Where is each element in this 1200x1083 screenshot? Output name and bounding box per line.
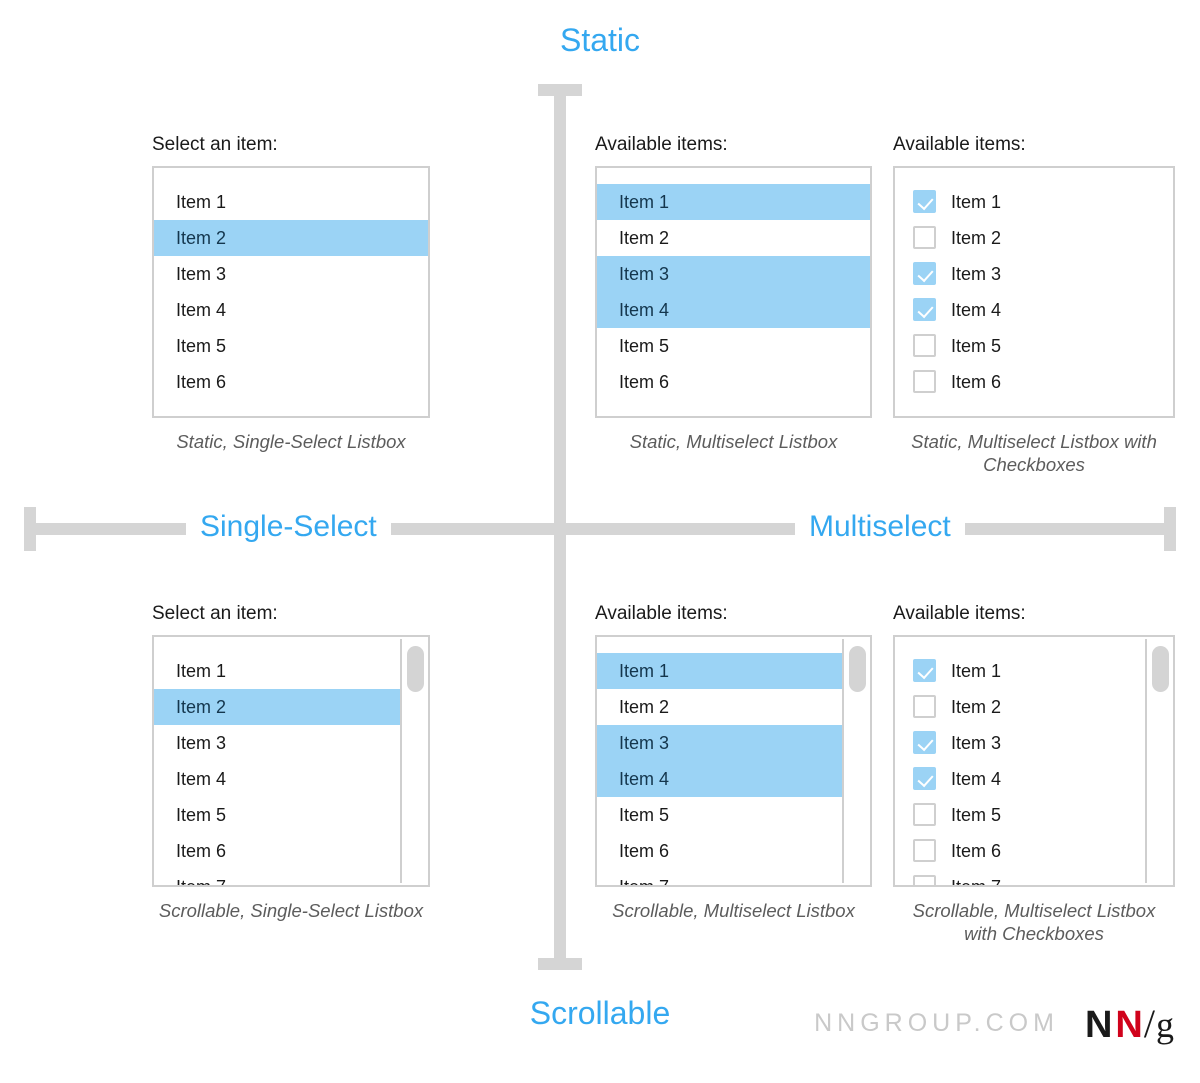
listbox-caption: Scrollable, Multiselect Listbox — [589, 899, 879, 922]
footer-site-url: NNGROUP.COM — [814, 1009, 1059, 1038]
axis-label-single-select: Single-Select — [186, 512, 391, 542]
list-item-label: Item 2 — [619, 229, 669, 247]
horizontal-axis-cap-left — [24, 507, 36, 551]
list-item[interactable]: Item 1 — [895, 653, 1147, 689]
list-item-label: Item 3 — [951, 734, 1001, 752]
panel-scrollable-single-select: Select an item:Item 1Item 2Item 3Item 4I… — [152, 603, 430, 922]
list-item[interactable]: Item 3 — [895, 725, 1147, 761]
checkbox-unchecked-icon[interactable] — [913, 334, 936, 357]
footer: NNGROUP.COM N N / g — [814, 1000, 1174, 1047]
list-item-label: Item 6 — [176, 373, 226, 391]
listbox-caption: Static, Single-Select Listbox — [152, 430, 430, 453]
list-item-label: Item 1 — [951, 193, 1001, 211]
list-item[interactable]: Item 6 — [895, 833, 1147, 869]
list-item[interactable]: Item 7 — [154, 869, 402, 887]
list-item[interactable]: Item 5 — [895, 797, 1147, 833]
horizontal-axis-cap-right — [1164, 507, 1176, 551]
list-item-label: Item 1 — [176, 662, 226, 680]
checkbox-checked-icon[interactable] — [913, 767, 936, 790]
list-item[interactable]: Item 4 — [154, 292, 428, 328]
list-item-label: Item 5 — [951, 806, 1001, 824]
list-item[interactable]: Item 1 — [154, 653, 402, 689]
list-item[interactable]: Item 2 — [597, 689, 844, 725]
list-item-label: Item 1 — [951, 662, 1001, 680]
list-item[interactable]: Item 1 — [597, 653, 844, 689]
scrollbar-track[interactable] — [842, 639, 868, 883]
list-item[interactable]: Item 1 — [154, 184, 428, 220]
listbox-scrollable-multiselect[interactable]: Item 1Item 2Item 3Item 4Item 5Item 6Item… — [595, 635, 872, 887]
listbox-static-single-select[interactable]: Item 1Item 2Item 3Item 4Item 5Item 6 — [152, 166, 430, 418]
scrollbar-track[interactable] — [400, 639, 426, 883]
axis-label-multiselect: Multiselect — [795, 512, 965, 542]
checkbox-unchecked-icon[interactable] — [913, 695, 936, 718]
scrollbar-track[interactable] — [1145, 639, 1171, 883]
logo-letter-n-black: N — [1085, 1004, 1112, 1047]
list-item-label: Item 2 — [176, 229, 226, 247]
listbox-prompt-label: Available items: — [595, 134, 872, 157]
list-item-label: Item 7 — [951, 878, 1001, 887]
listbox-prompt-label: Available items: — [893, 134, 1175, 157]
list-item[interactable]: Item 4 — [597, 761, 844, 797]
list-item[interactable]: Item 6 — [597, 833, 844, 869]
scrollbar-thumb[interactable] — [407, 646, 424, 692]
list-item-label: Item 6 — [176, 842, 226, 860]
list-item[interactable]: Item 4 — [154, 761, 402, 797]
list-item-label: Item 1 — [176, 193, 226, 211]
list-item[interactable]: Item 2 — [597, 220, 870, 256]
list-item[interactable]: Item 5 — [597, 797, 844, 833]
checkbox-checked-icon[interactable] — [913, 731, 936, 754]
list-item-label: Item 3 — [176, 734, 226, 752]
list-item[interactable]: Item 2 — [154, 689, 402, 725]
list-item[interactable]: Item 5 — [895, 328, 1173, 364]
vertical-axis-cap-bottom — [538, 958, 582, 970]
panel-scrollable-multiselect-checkboxes: Available items:Item 1Item 2Item 3Item 4… — [893, 603, 1175, 945]
list-item-label: Item 6 — [951, 373, 1001, 391]
list-item[interactable]: Item 7 — [895, 869, 1147, 887]
checkbox-unchecked-icon[interactable] — [913, 803, 936, 826]
scrollbar-thumb[interactable] — [849, 646, 866, 692]
axis-label-static: Static — [0, 24, 1200, 56]
list-item[interactable]: Item 2 — [895, 220, 1173, 256]
list-item[interactable]: Item 4 — [895, 292, 1173, 328]
list-item[interactable]: Item 3 — [154, 256, 428, 292]
list-item-label: Item 1 — [619, 193, 669, 211]
listbox-prompt-label: Select an item: — [152, 603, 430, 626]
vertical-axis-cap-top — [538, 84, 582, 96]
list-item[interactable]: Item 4 — [895, 761, 1147, 797]
list-item[interactable]: Item 4 — [597, 292, 870, 328]
list-item-label: Item 2 — [176, 698, 226, 716]
list-item-label: Item 3 — [176, 265, 226, 283]
checkbox-unchecked-icon[interactable] — [913, 370, 936, 393]
list-item-label: Item 5 — [951, 337, 1001, 355]
list-item-label: Item 5 — [176, 337, 226, 355]
logo-letter-g: g — [1156, 1004, 1174, 1046]
panel-scrollable-multiselect: Available items:Item 1Item 2Item 3Item 4… — [595, 603, 872, 922]
list-item[interactable]: Item 6 — [154, 833, 402, 869]
list-item[interactable]: Item 1 — [895, 184, 1173, 220]
listbox-static-multiselect[interactable]: Item 1Item 2Item 3Item 4Item 5Item 6 — [595, 166, 872, 418]
list-item[interactable]: Item 1 — [597, 184, 870, 220]
checkbox-checked-icon[interactable] — [913, 190, 936, 213]
list-item-label: Item 4 — [176, 770, 226, 788]
list-item-label: Item 6 — [619, 373, 669, 391]
list-item-label: Item 5 — [619, 337, 669, 355]
list-item[interactable]: Item 6 — [895, 364, 1173, 400]
listbox-prompt-label: Available items: — [595, 603, 872, 626]
listbox-caption: Static, Multiselect Listbox with Checkbo… — [893, 430, 1175, 477]
list-item-label: Item 3 — [619, 734, 669, 752]
list-item[interactable]: Item 3 — [154, 725, 402, 761]
list-item-label: Item 3 — [951, 265, 1001, 283]
panel-static-single-select: Select an item:Item 1Item 2Item 3Item 4I… — [152, 134, 430, 453]
logo-slash: / — [1144, 1000, 1155, 1047]
checkbox-unchecked-icon[interactable] — [913, 839, 936, 862]
checkbox-unchecked-icon[interactable] — [913, 226, 936, 249]
list-item-label: Item 2 — [951, 229, 1001, 247]
list-item-label: Item 4 — [951, 770, 1001, 788]
listbox-static-multiselect-checkboxes[interactable]: Item 1Item 2Item 3Item 4Item 5Item 6 — [893, 166, 1175, 418]
list-item-label: Item 7 — [176, 878, 226, 887]
logo-letter-n-red: N — [1115, 1004, 1142, 1047]
nng-logo: N N / g — [1085, 1000, 1174, 1047]
list-item[interactable]: Item 2 — [895, 689, 1147, 725]
list-item[interactable]: Item 5 — [154, 797, 402, 833]
list-item[interactable]: Item 3 — [597, 256, 870, 292]
checkbox-checked-icon[interactable] — [913, 298, 936, 321]
list-item[interactable]: Item 7 — [597, 869, 844, 887]
list-item-label: Item 1 — [619, 662, 669, 680]
list-item[interactable]: Item 3 — [597, 725, 844, 761]
list-item[interactable]: Item 5 — [154, 328, 428, 364]
list-item[interactable]: Item 2 — [154, 220, 428, 256]
list-item-label: Item 7 — [619, 878, 669, 887]
listbox-caption: Scrollable, Single-Select Listbox — [141, 899, 441, 922]
list-item-label: Item 4 — [619, 770, 669, 788]
list-item-label: Item 3 — [619, 265, 669, 283]
checkbox-unchecked-icon[interactable] — [913, 875, 936, 887]
listbox-prompt-label: Select an item: — [152, 134, 430, 157]
list-item[interactable]: Item 5 — [597, 328, 870, 364]
listbox-prompt-label: Available items: — [893, 603, 1175, 626]
list-item[interactable]: Item 3 — [895, 256, 1173, 292]
list-item-label: Item 5 — [176, 806, 226, 824]
checkbox-checked-icon[interactable] — [913, 659, 936, 682]
list-item-label: Item 6 — [619, 842, 669, 860]
list-item-label: Item 2 — [619, 698, 669, 716]
listbox-caption: Scrollable, Multiselect Listbox with Che… — [900, 899, 1168, 946]
list-item[interactable]: Item 6 — [597, 364, 870, 400]
listbox-caption: Static, Multiselect Listbox — [595, 430, 872, 453]
scrollbar-thumb[interactable] — [1152, 646, 1169, 692]
list-item-label: Item 2 — [951, 698, 1001, 716]
listbox-scrollable-single-select[interactable]: Item 1Item 2Item 3Item 4Item 5Item 6Item… — [152, 635, 430, 887]
list-item-label: Item 4 — [619, 301, 669, 319]
panel-static-multiselect-checkboxes: Available items:Item 1Item 2Item 3Item 4… — [893, 134, 1175, 476]
list-item-label: Item 6 — [951, 842, 1001, 860]
list-item-label: Item 4 — [951, 301, 1001, 319]
checkbox-checked-icon[interactable] — [913, 262, 936, 285]
listbox-scrollable-multiselect-checkboxes[interactable]: Item 1Item 2Item 3Item 4Item 5Item 6Item… — [893, 635, 1175, 887]
list-item-label: Item 5 — [619, 806, 669, 824]
panel-static-multiselect: Available items:Item 1Item 2Item 3Item 4… — [595, 134, 872, 453]
list-item-label: Item 4 — [176, 301, 226, 319]
list-item[interactable]: Item 6 — [154, 364, 428, 400]
